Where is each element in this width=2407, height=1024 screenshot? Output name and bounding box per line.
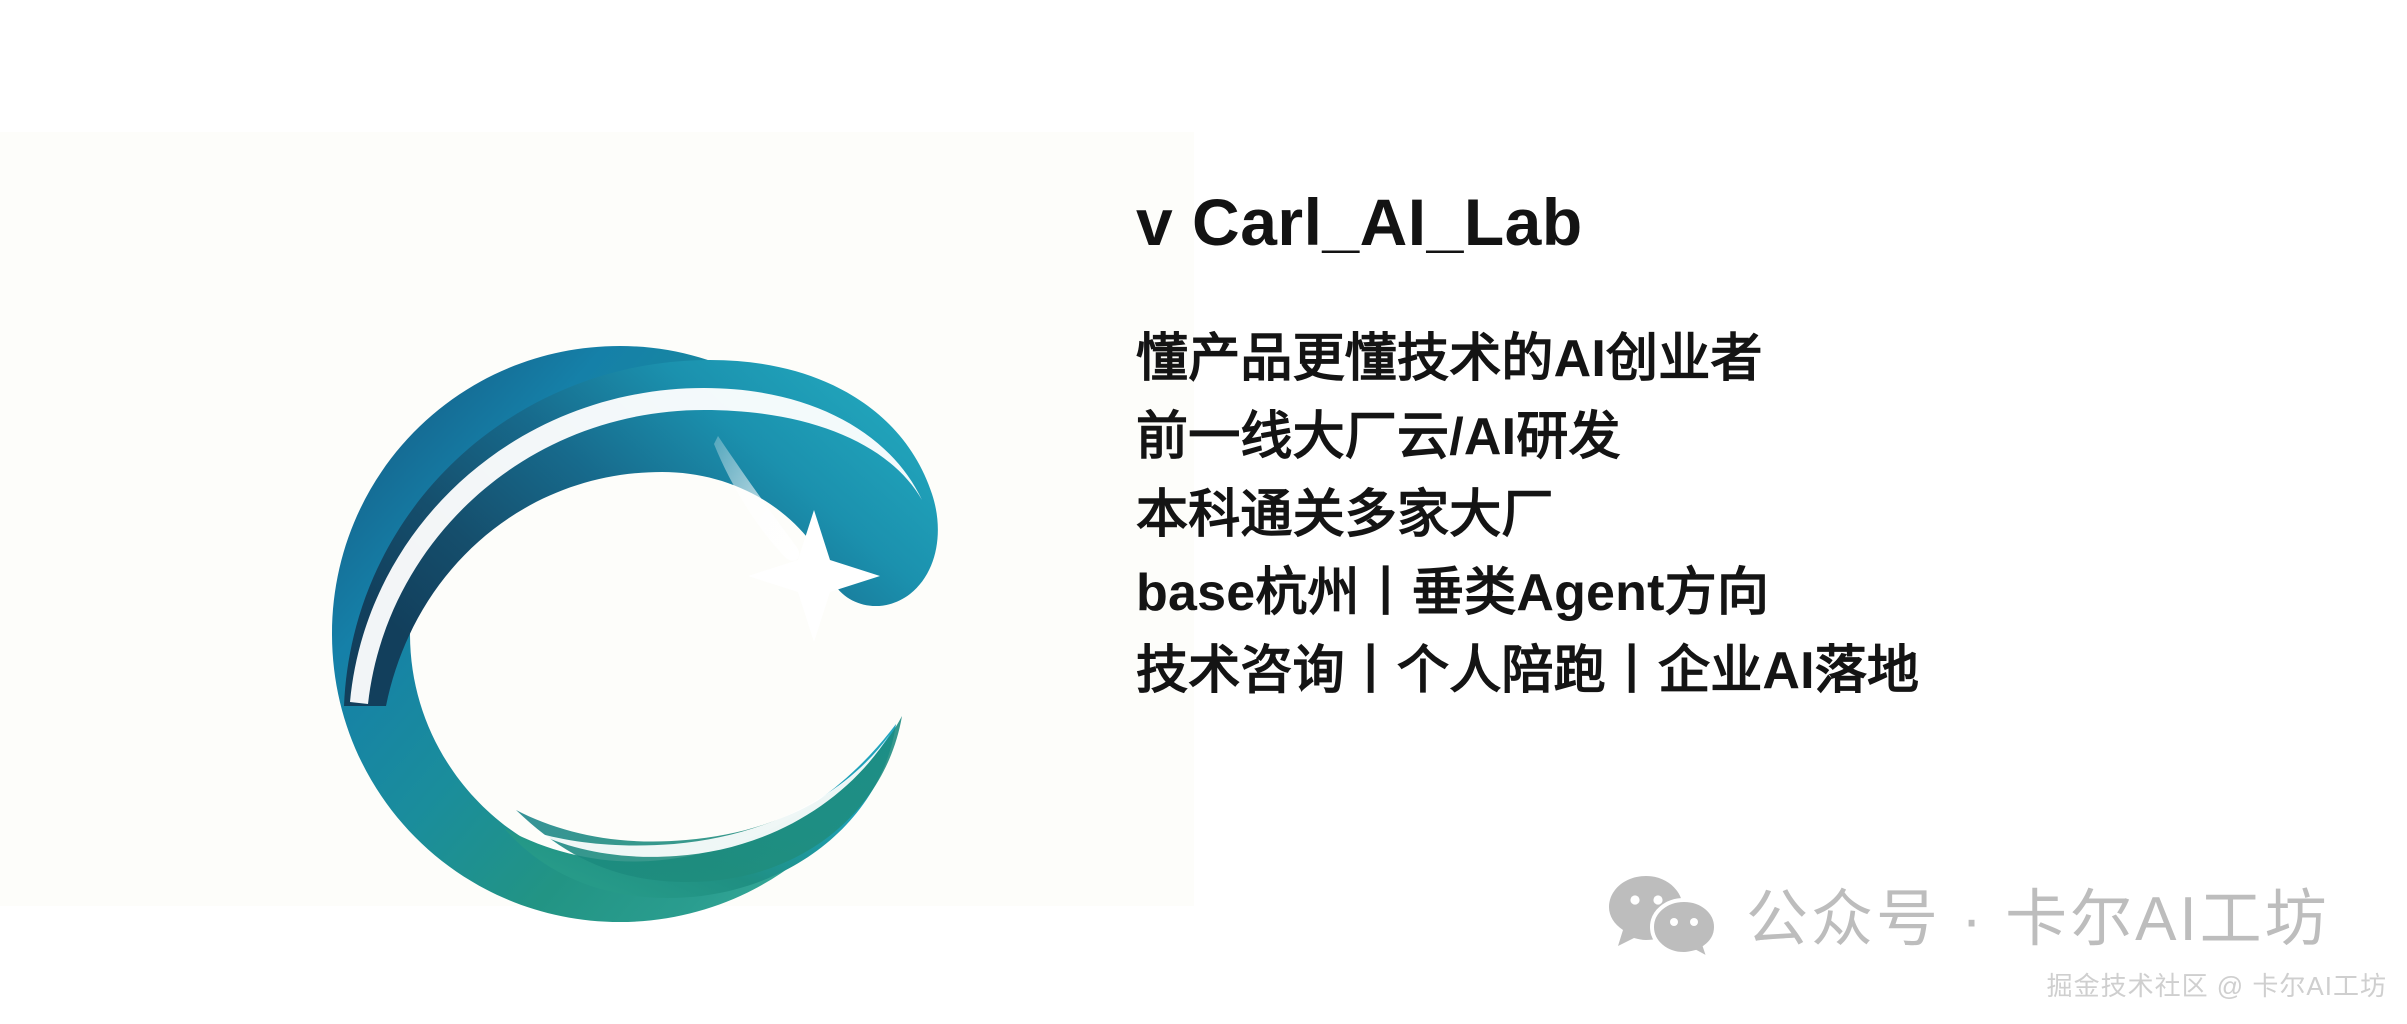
wechat-eye-1 bbox=[1630, 895, 1639, 904]
logo-panel bbox=[0, 132, 1194, 906]
bio-line-1: 懂产品更懂技术的AI创业者 bbox=[1136, 320, 2366, 398]
bio-line-5: 技术咨询丨个人陪跑丨企业AI落地 bbox=[1136, 632, 2366, 710]
wechat-eye-2 bbox=[1653, 895, 1662, 904]
wechat-watermark: 公众号 · 卡尔AI工坊 bbox=[1608, 874, 2330, 966]
bio-line-2: 前一线大厂云/AI研发 bbox=[1136, 398, 2366, 476]
wechat-eye-3 bbox=[1670, 918, 1678, 926]
wechat-eye-4 bbox=[1690, 918, 1698, 926]
watermark-label: 公众号 · 卡尔AI工坊 bbox=[1746, 889, 2330, 951]
bio-line-4: base杭州丨垂类Agent方向 bbox=[1136, 554, 2366, 632]
profile-card: v Carl_AI_Lab 懂产品更懂技术的AI创业者 前一线大厂云/AI研发 … bbox=[0, 0, 2407, 1024]
carl-ai-lab-logo bbox=[290, 304, 950, 944]
bio-line-3: 本科通关多家大厂 bbox=[1136, 476, 2366, 554]
page-title: v Carl_AI_Lab bbox=[1136, 186, 2366, 260]
wechat-icon bbox=[1608, 874, 1720, 966]
attribution-text: 掘金技术社区 @ 卡尔AI工坊 bbox=[2047, 966, 2387, 1003]
profile-text-column: v Carl_AI_Lab 懂产品更懂技术的AI创业者 前一线大厂云/AI研发 … bbox=[1136, 186, 2366, 710]
bio-list: 懂产品更懂技术的AI创业者 前一线大厂云/AI研发 本科通关多家大厂 base杭… bbox=[1136, 320, 2366, 710]
wechat-bubble-small bbox=[1652, 900, 1716, 959]
